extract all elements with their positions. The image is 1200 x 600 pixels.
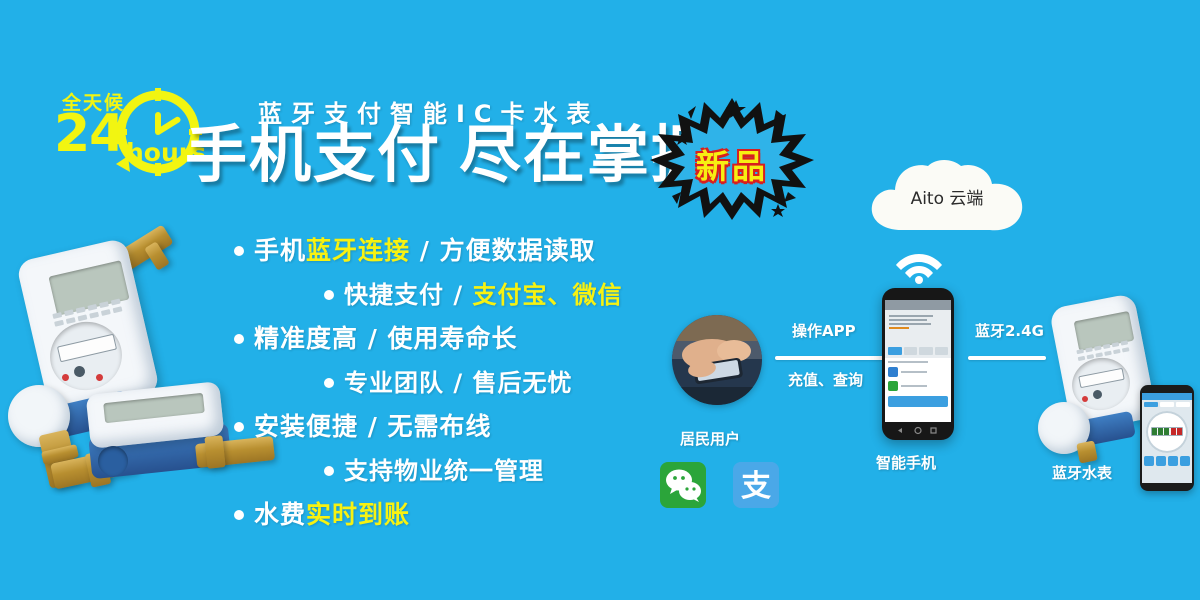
feature-text-segment: 水费	[254, 500, 306, 529]
connector-label-operate-app: 操作APP	[792, 320, 856, 341]
feature-list: 手机蓝牙连接 / 方便数据读取快捷支付 / 支付宝、微信精准度高 / 使用寿命长…	[232, 232, 702, 540]
wechat-pay-icon	[660, 462, 706, 508]
new-product-badge: 新品	[648, 92, 816, 222]
feature-item: 水费实时到账	[232, 496, 702, 534]
svg-text:支: 支	[741, 469, 771, 504]
wifi-icon	[895, 248, 943, 284]
title-part-1: 手机支付	[185, 118, 441, 191]
feature-item: 安装便捷 / 无需布线	[232, 408, 702, 446]
bullet-dot-icon	[234, 246, 244, 256]
cloud-node: Aito 云端	[862, 158, 1032, 238]
feature-item: 快捷支付 / 支付宝、微信	[232, 276, 702, 314]
connector-line-left	[775, 356, 895, 360]
connector-label-recharge-query: 充值、查询	[788, 369, 863, 390]
android-navbar-icon	[885, 424, 951, 437]
feature-item: 精准度高 / 使用寿命长	[232, 320, 702, 358]
resident-user-photo	[672, 315, 762, 405]
feature-text-segment: 支持物业统一管理	[344, 457, 544, 485]
connector-label-bluetooth: 蓝牙2.4G	[975, 320, 1044, 341]
bullet-dot-icon	[234, 510, 244, 520]
feature-item: 专业团队 / 售后无忧	[232, 364, 702, 402]
badge-number: 24	[54, 108, 124, 160]
resident-user-caption: 居民用户	[680, 428, 740, 449]
bullet-dot-icon	[324, 466, 334, 476]
bullet-dot-icon	[324, 378, 334, 388]
smartphone-device	[882, 288, 954, 440]
feature-text-segment: 蓝牙连接	[306, 236, 410, 265]
bullet-dot-icon	[324, 290, 334, 300]
meter-reading-app-phone	[1140, 385, 1194, 491]
feature-text-segment: 手机	[254, 236, 306, 265]
new-product-label: 新品	[648, 140, 816, 188]
feature-text-segment: 安装便捷 / 无需布线	[254, 412, 492, 441]
page-title: 手机支付尽在掌握	[185, 124, 715, 186]
feature-text-segment: 快捷支付 /	[344, 281, 472, 309]
feature-text-segment: 精准度高 / 使用寿命长	[254, 324, 518, 353]
feature-text-segment: 实时到账	[306, 500, 410, 529]
feature-text-segment: / 方便数据读取	[410, 236, 596, 265]
feature-text-segment: 专业团队 / 售后无忧	[344, 369, 572, 397]
bullet-dot-icon	[234, 334, 244, 344]
bullet-dot-icon	[234, 422, 244, 432]
connector-line-right	[968, 356, 1046, 360]
feature-item: 支持物业统一管理	[232, 452, 702, 490]
cloud-label: Aito 云端	[862, 184, 1032, 209]
alipay-icon: 支	[733, 462, 779, 508]
feature-text-segment: 支付宝、微信	[472, 281, 622, 309]
bluetooth-meter-caption: 蓝牙水表	[1052, 462, 1112, 483]
feature-item: 手机蓝牙连接 / 方便数据读取	[232, 232, 702, 270]
promo-banner: 全天候 24 hours 蓝牙支付智能IC卡水表 手机支付尽在掌握 新品 手	[0, 0, 1200, 600]
smartphone-caption: 智能手机	[876, 452, 936, 473]
